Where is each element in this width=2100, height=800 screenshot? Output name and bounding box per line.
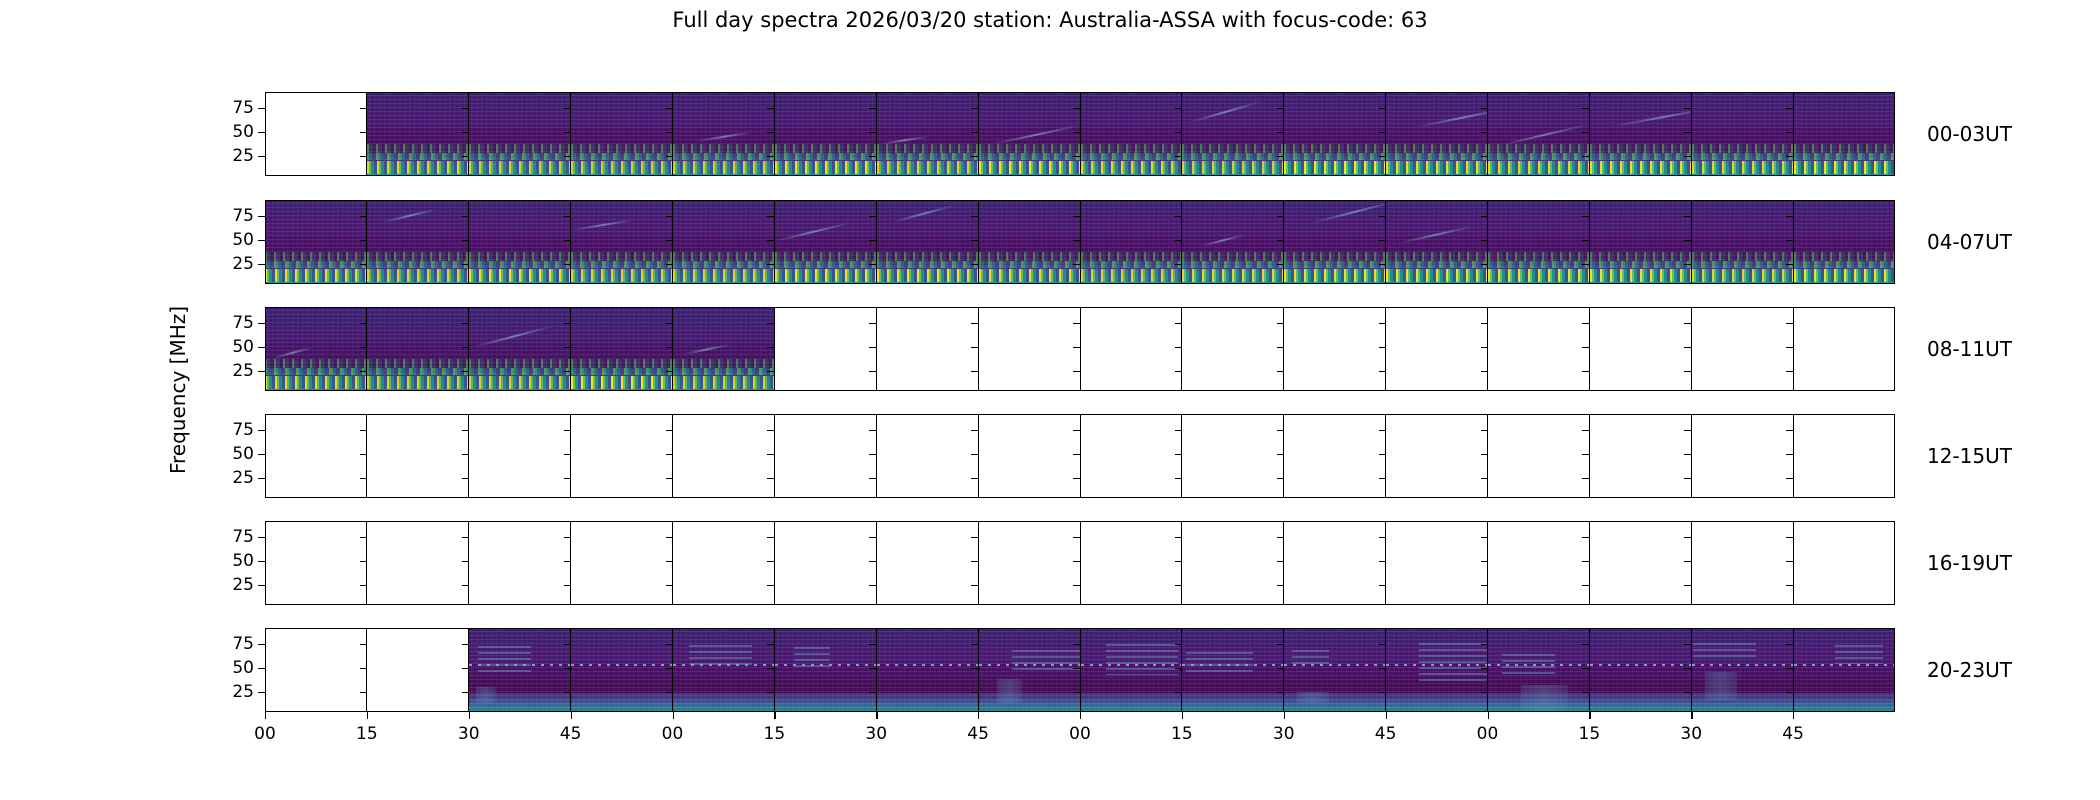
spectrogram-panel[interactable] [469, 307, 571, 391]
spectrogram-panel[interactable] [1488, 92, 1590, 176]
spectrogram-panel-empty[interactable] [1794, 521, 1895, 605]
panel-boundary-tick [1277, 240, 1284, 241]
panel-boundary-tick [869, 644, 876, 645]
panel-boundary-tick [1175, 132, 1182, 133]
panel-boundary-tick [767, 561, 774, 562]
emission-band-primary [673, 161, 774, 174]
spectrogram-panel-empty[interactable] [877, 521, 979, 605]
spectrogram-panel-empty[interactable] [265, 92, 367, 176]
spectrogram-panel-empty[interactable] [1794, 307, 1895, 391]
panel-boundary-tick [1379, 240, 1386, 241]
emission-speckle-band [571, 144, 672, 153]
y-axis-tick [258, 323, 265, 324]
spectrogram-panel-empty[interactable] [1794, 414, 1895, 498]
panel-boundary-tick [971, 478, 978, 479]
panel-boundary-tick [1379, 668, 1386, 669]
spectrogram-panel[interactable] [673, 200, 775, 284]
emission-speckle-band [877, 252, 978, 261]
panel-boundary-tick [462, 132, 469, 133]
emission-band-secondary [1386, 261, 1487, 268]
emission-band-primary [1692, 161, 1793, 174]
spectrogram-panel[interactable] [1590, 200, 1692, 284]
spectrogram-panel[interactable] [469, 92, 571, 176]
emission-band-primary [469, 161, 570, 174]
spectrogram-panel-empty[interactable] [571, 521, 673, 605]
broadband-block-feature [1705, 672, 1736, 700]
y-axis-tick [258, 430, 265, 431]
y-axis-tick [258, 216, 265, 217]
emission-band-secondary [469, 368, 570, 375]
emission-band-secondary [367, 153, 468, 160]
y-axis-label: Frequency [MHz] [166, 306, 190, 474]
panel-boundary-tick [971, 156, 978, 157]
spectrogram-panel-empty[interactable] [1182, 521, 1284, 605]
spectrogram-panel[interactable] [1590, 628, 1692, 712]
panel-boundary-tick [1175, 156, 1182, 157]
spectrogram-panel[interactable] [367, 307, 469, 391]
panel-boundary-tick [1684, 323, 1691, 324]
spectrogram-panel[interactable] [979, 200, 1081, 284]
low-frequency-rfi-line [1488, 707, 1589, 708]
emission-speckle-band [1182, 144, 1283, 153]
panel-boundary-tick [1684, 264, 1691, 265]
spectrogram-panel[interactable] [1590, 92, 1692, 176]
panel-boundary-tick [1175, 478, 1182, 479]
spectrogram-panel-empty[interactable] [265, 414, 367, 498]
panel-boundary-tick [767, 430, 774, 431]
emission-band-secondary [673, 261, 774, 268]
panel-boundary-tick [767, 692, 774, 693]
x-axis-tick-label: 30 [865, 724, 887, 744]
spectrogram-panel-empty[interactable] [1692, 414, 1794, 498]
panel-boundary-tick [1175, 347, 1182, 348]
spectrogram-panel[interactable] [1692, 200, 1794, 284]
panel-boundary-tick [1073, 478, 1080, 479]
panel-boundary-tick [1481, 644, 1488, 645]
spectrogram-panel[interactable] [1488, 628, 1590, 712]
spectrogram-panel-empty[interactable] [673, 521, 775, 605]
spectrogram-panel-empty[interactable] [673, 414, 775, 498]
panel-boundary-tick [1582, 108, 1589, 109]
emission-band-secondary [469, 153, 570, 160]
spectrogram-panel[interactable] [1692, 92, 1794, 176]
y-axis-tick-label: 50 [232, 122, 254, 142]
panel-boundary-tick [462, 430, 469, 431]
panel-boundary-tick [666, 240, 673, 241]
emission-band-secondary [265, 368, 366, 375]
spectrogram-panel[interactable] [1081, 200, 1183, 284]
spectrogram-panel[interactable] [1386, 92, 1488, 176]
spectrogram-panel[interactable] [1488, 200, 1590, 284]
rfi-dotted-line [571, 664, 672, 666]
spectrogram-panel-empty[interactable] [265, 521, 367, 605]
panel-boundary-tick [767, 264, 774, 265]
spectrogram-panel[interactable] [877, 628, 979, 712]
panel-boundary-tick [1481, 240, 1488, 241]
spectrogram-panel-empty[interactable] [1081, 521, 1183, 605]
emission-speckle-band [1794, 144, 1895, 153]
panel-boundary-tick [360, 537, 367, 538]
spectrogram-panel-empty[interactable] [367, 414, 469, 498]
x-axis-tick [469, 712, 470, 719]
x-axis-tick-label: 45 [967, 724, 989, 744]
emission-band-primary [877, 269, 978, 282]
panel-boundary-tick [1582, 692, 1589, 693]
panel-boundary-tick [1582, 430, 1589, 431]
panel-boundary-tick [1277, 216, 1284, 217]
y-axis-tick-label: 25 [232, 682, 254, 702]
panel-boundary-tick [971, 454, 978, 455]
panel-boundary-tick [767, 132, 774, 133]
emission-band-secondary [367, 261, 468, 268]
x-axis-tick-label: 15 [1579, 724, 1601, 744]
y-axis-tick-label: 75 [232, 527, 254, 547]
spectrogram-panel-empty[interactable] [1182, 414, 1284, 498]
x-axis-tick-label: 30 [458, 724, 480, 744]
spectrogram-panel[interactable] [1284, 200, 1386, 284]
spectrogram-panel-empty[interactable] [265, 628, 367, 712]
panel-boundary-tick [1582, 585, 1589, 586]
spectrogram-panel[interactable] [1692, 628, 1794, 712]
spectrogram-panel[interactable] [571, 307, 673, 391]
panel-boundary-tick [666, 430, 673, 431]
panel-boundary-tick [462, 644, 469, 645]
panel-boundary-tick [462, 561, 469, 562]
spectrogram-panel-empty[interactable] [469, 414, 571, 498]
spectrogram-panel[interactable] [1081, 628, 1183, 712]
panel-boundary-tick [1277, 156, 1284, 157]
rfi-dotted-line [1794, 664, 1895, 666]
panel-boundary-tick [1379, 132, 1386, 133]
panel-boundary-tick [1277, 371, 1284, 372]
panel-boundary-tick [666, 454, 673, 455]
spectrogram-panel-empty[interactable] [979, 414, 1081, 498]
panel-boundary-tick [1684, 347, 1691, 348]
panel-boundary-tick [869, 156, 876, 157]
panel-boundary-tick [1582, 347, 1589, 348]
spectrogram-panel[interactable] [469, 628, 571, 712]
panel-boundary-tick [360, 668, 367, 669]
spectrogram-panel-empty[interactable] [367, 521, 469, 605]
emission-speckle-band [1386, 144, 1487, 153]
panel-boundary-tick [564, 454, 571, 455]
panel-boundary-tick [462, 240, 469, 241]
panel-boundary-tick [462, 454, 469, 455]
spectrogram-panel-empty[interactable] [775, 414, 877, 498]
panel-boundary-tick [1786, 537, 1793, 538]
panel-boundary-tick [360, 430, 367, 431]
spectrogram-panel[interactable] [1386, 200, 1488, 284]
spectrogram-panel[interactable] [775, 628, 877, 712]
emission-band-secondary [571, 261, 672, 268]
panel-boundary-tick [767, 347, 774, 348]
y-axis-tick-label: 25 [232, 575, 254, 595]
panel-boundary-tick [1481, 108, 1488, 109]
rfi-dotted-line [1590, 664, 1691, 666]
emission-band-secondary [877, 153, 978, 160]
panel-boundary-tick [1684, 537, 1691, 538]
low-frequency-rfi-line [1590, 707, 1691, 708]
spectrogram-panel[interactable] [571, 92, 673, 176]
panel-boundary-tick [1582, 668, 1589, 669]
emission-band-primary [1794, 269, 1895, 282]
emission-band-primary [1590, 161, 1691, 174]
spectrogram-panel-empty[interactable] [571, 414, 673, 498]
panel-boundary-tick [1481, 347, 1488, 348]
y-axis-tick-label: 75 [232, 634, 254, 654]
x-axis-tick [1182, 712, 1183, 719]
x-axis-tick [367, 712, 368, 719]
panel-boundary-tick [1786, 561, 1793, 562]
panel-boundary-tick [1175, 240, 1182, 241]
spectrogram-panel-empty[interactable] [1692, 307, 1794, 391]
x-axis-tick-label: 00 [254, 724, 276, 744]
y-axis-tick-label: 25 [232, 361, 254, 381]
spectrogram-panel[interactable] [1182, 200, 1284, 284]
spectrogram-panel[interactable] [469, 200, 571, 284]
panel-boundary-tick [1786, 454, 1793, 455]
spectrogram-panel[interactable] [367, 200, 469, 284]
spectrogram-panel[interactable] [673, 92, 775, 176]
panel-boundary-tick [971, 692, 978, 693]
panel-boundary-tick [767, 156, 774, 157]
panel-boundary-tick [1582, 216, 1589, 217]
emission-band-primary [673, 269, 774, 282]
spectrogram-panel[interactable] [367, 92, 469, 176]
spectrogram-panel[interactable] [775, 200, 877, 284]
spectrogram-panel-empty[interactable] [469, 521, 571, 605]
spectrogram-panel[interactable] [1284, 92, 1386, 176]
spectrogram-panel-empty[interactable] [1284, 414, 1386, 498]
spectrogram-panel-empty[interactable] [1284, 521, 1386, 605]
panel-boundary-tick [767, 537, 774, 538]
spectrogram-panel-empty[interactable] [1590, 307, 1692, 391]
panel-boundary-tick [360, 478, 367, 479]
panel-boundary-tick [1582, 454, 1589, 455]
spectrogram-panel-empty[interactable] [1386, 307, 1488, 391]
panel-boundary-tick [564, 561, 571, 562]
panel-boundary-tick [767, 108, 774, 109]
panel-boundary-tick [1379, 692, 1386, 693]
panel-boundary-tick [1481, 692, 1488, 693]
panel-boundary-tick [869, 454, 876, 455]
x-axis-tick-label: 15 [356, 724, 378, 744]
spectrogram-panel-empty[interactable] [367, 628, 469, 712]
emission-speckle-band [1692, 252, 1793, 261]
emission-speckle-band [1386, 252, 1487, 261]
banded-rfi-feature [1835, 645, 1884, 663]
panel-boundary-tick [1073, 430, 1080, 431]
spectrogram-panel[interactable] [1081, 92, 1183, 176]
temporal-noise [571, 628, 672, 712]
panel-boundary-tick [869, 585, 876, 586]
panel-boundary-tick [1175, 454, 1182, 455]
panel-boundary-tick [462, 216, 469, 217]
panel-boundary-tick [1175, 692, 1182, 693]
spectrogram-panel-empty[interactable] [1488, 307, 1590, 391]
x-axis-tick-label: 00 [662, 724, 684, 744]
panel-boundary-tick [971, 537, 978, 538]
low-frequency-rfi-line [775, 707, 876, 708]
emission-band-primary [673, 376, 774, 389]
emission-speckle-band [673, 359, 774, 368]
panel-boundary-tick [1786, 240, 1793, 241]
spectrogram-panel[interactable] [877, 200, 979, 284]
emission-band-secondary [571, 368, 672, 375]
emission-speckle-band [571, 252, 672, 261]
panel-boundary-tick [1379, 108, 1386, 109]
emission-band-primary [1794, 161, 1895, 174]
spectrogram-panel-empty[interactable] [1284, 307, 1386, 391]
spectrogram-panel-empty[interactable] [1386, 521, 1488, 605]
panel-boundary-tick [1786, 692, 1793, 693]
spectrogram-panel-empty[interactable] [1488, 521, 1590, 605]
panel-boundary-tick [666, 537, 673, 538]
y-axis-tick [258, 454, 265, 455]
y-axis-tick-label: 50 [232, 444, 254, 464]
panel-boundary-tick [564, 323, 571, 324]
spectrogram-panel[interactable] [979, 628, 1081, 712]
spectrogram-panel[interactable] [1182, 628, 1284, 712]
panel-boundary-tick [767, 240, 774, 241]
panel-strip [265, 414, 1895, 498]
panel-boundary-tick [1379, 347, 1386, 348]
spectrogram-panel-empty[interactable] [1182, 307, 1284, 391]
spectrogram-panel[interactable] [673, 307, 775, 391]
spectrogram-panel-empty[interactable] [877, 307, 979, 391]
panel-boundary-tick [462, 156, 469, 157]
y-axis-tick [258, 108, 265, 109]
emission-speckle-band [367, 252, 468, 261]
spectrogram-panel-empty[interactable] [1386, 414, 1488, 498]
panel-boundary-tick [462, 108, 469, 109]
spectrogram-panel[interactable] [571, 628, 673, 712]
panel-boundary-tick [666, 371, 673, 372]
emission-band-primary [1284, 269, 1385, 282]
panel-boundary-tick [1175, 644, 1182, 645]
panel-boundary-tick [1175, 561, 1182, 562]
panel-boundary-tick [1582, 644, 1589, 645]
spectrogram-panel-empty[interactable] [1488, 414, 1590, 498]
panel-boundary-tick [869, 561, 876, 562]
emission-speckle-band [469, 144, 570, 153]
panel-boundary-tick [1073, 692, 1080, 693]
emission-band-primary [1386, 269, 1487, 282]
row-time-label: 04-07UT [1927, 230, 2012, 254]
emission-band-secondary [571, 153, 672, 160]
emission-band-primary [1182, 161, 1283, 174]
panel-boundary-tick [462, 371, 469, 372]
spectrogram-panel-empty[interactable] [775, 307, 877, 391]
panel-boundary-tick [1277, 132, 1284, 133]
panel-boundary-tick [1175, 585, 1182, 586]
spectrogram-panel[interactable] [979, 92, 1081, 176]
x-axis-tick-label: 30 [1273, 724, 1295, 744]
panel-boundary-tick [564, 347, 571, 348]
y-axis-tick [258, 478, 265, 479]
spectrogram-panel-empty[interactable] [775, 521, 877, 605]
spectrogram-panel[interactable] [265, 307, 367, 391]
emission-band-secondary [1794, 153, 1895, 160]
emission-speckle-band [571, 359, 672, 368]
spectrogram-panel[interactable] [673, 628, 775, 712]
panel-boundary-tick [1379, 323, 1386, 324]
panel-boundary-tick [767, 323, 774, 324]
spectrogram-panel-empty[interactable] [1590, 414, 1692, 498]
emission-band-primary [1692, 269, 1793, 282]
panel-boundary-tick [666, 668, 673, 669]
panel-boundary-tick [666, 561, 673, 562]
spectrogram-panel[interactable] [1794, 92, 1895, 176]
panel-boundary-tick [1786, 430, 1793, 431]
emission-band-secondary [1488, 261, 1589, 268]
spectrogram-panel[interactable] [775, 92, 877, 176]
emission-band-primary [1182, 269, 1283, 282]
spectrogram-panel[interactable] [265, 200, 367, 284]
spectrogram-panel[interactable] [877, 92, 979, 176]
spectrogram-row: 255075 [265, 92, 1895, 176]
spectrogram-panel-empty[interactable] [1590, 521, 1692, 605]
panel-boundary-tick [666, 644, 673, 645]
panel-boundary-tick [1786, 216, 1793, 217]
panel-boundary-tick [1379, 478, 1386, 479]
spectrogram-panel-empty[interactable] [979, 307, 1081, 391]
spectrogram-panel-empty[interactable] [1081, 307, 1183, 391]
spectrogram-panel-empty[interactable] [1081, 414, 1183, 498]
panel-boundary-tick [564, 692, 571, 693]
emission-band-secondary [1081, 153, 1182, 160]
panel-boundary-tick [1684, 108, 1691, 109]
y-axis-tick [258, 644, 265, 645]
panel-boundary-tick [869, 668, 876, 669]
panel-boundary-tick [666, 692, 673, 693]
emission-speckle-band [1284, 144, 1385, 153]
y-axis-tick [258, 561, 265, 562]
panel-boundary-tick [1073, 561, 1080, 562]
panel-boundary-tick [971, 561, 978, 562]
temporal-noise [1794, 628, 1895, 712]
panel-boundary-tick [1073, 585, 1080, 586]
banded-rfi-feature [1186, 652, 1253, 676]
spectrogram-panel-empty[interactable] [877, 414, 979, 498]
spectrogram-panel[interactable] [1794, 200, 1895, 284]
x-axis-tick-label: 30 [1680, 724, 1702, 744]
spectrogram-panel[interactable] [1386, 628, 1488, 712]
emission-speckle-band [469, 359, 570, 368]
panel-boundary-tick [1277, 108, 1284, 109]
spectrogram-panel[interactable] [571, 200, 673, 284]
panel-boundary-tick [564, 240, 571, 241]
y-axis-tick-label: 75 [232, 98, 254, 118]
spectrogram-panel[interactable] [1284, 628, 1386, 712]
panel-boundary-tick [1582, 561, 1589, 562]
panel-boundary-tick [767, 585, 774, 586]
panel-boundary-tick [1073, 644, 1080, 645]
spectrogram-panel[interactable] [1182, 92, 1284, 176]
panel-boundary-tick [666, 156, 673, 157]
emission-band-secondary [1692, 261, 1793, 268]
x-axis-tick-label: 15 [1171, 724, 1193, 744]
panel-boundary-tick [767, 478, 774, 479]
spectrogram-panel-empty[interactable] [1692, 521, 1794, 605]
emission-band-primary [877, 161, 978, 174]
x-axis-tick [1793, 712, 1794, 719]
y-axis-tick [258, 156, 265, 157]
panel-boundary-tick [1175, 264, 1182, 265]
spectrogram-panel-empty[interactable] [979, 521, 1081, 605]
row-time-label: 12-15UT [1927, 444, 2012, 468]
spectrogram-panel[interactable] [1794, 628, 1895, 712]
